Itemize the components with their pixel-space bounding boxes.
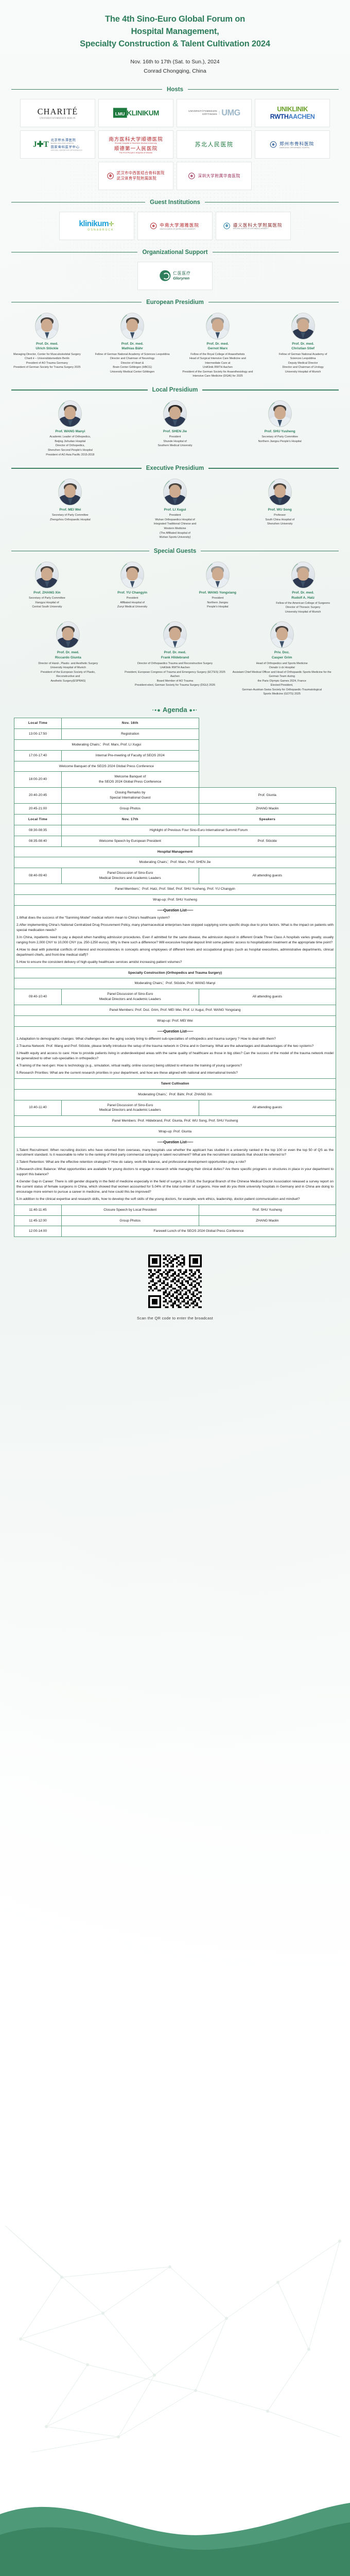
column-header-speakers: Speakers	[199, 814, 336, 825]
host-logo-northern-jiangsu: 苏北人民医院	[177, 130, 252, 159]
section-heading-local-presidium: Local Presidium	[11, 387, 339, 393]
local-presidium-list: Prof. WANG Manyi Academic Leader of Orth…	[0, 398, 350, 457]
network-pattern-background	[0, 2195, 350, 2463]
agenda-row: 08:35-08:40Welcome Speech by European Pr…	[14, 836, 336, 846]
person-name: Gernot Marx	[177, 346, 259, 351]
agenda-speaker: All attending guests	[199, 1100, 336, 1116]
agenda-time: 18:00-20:40	[14, 772, 62, 788]
person-card: Prof. Dr. med. Riccardo Giunta Director …	[15, 621, 121, 683]
person-description: Director of Hand-, Plastic- and Aestheti…	[16, 662, 120, 684]
avatar	[163, 479, 187, 505]
avatar	[268, 400, 292, 427]
agenda-note-row: Wrap-up: Prof. Giunta	[14, 1127, 336, 1138]
avatar	[268, 479, 292, 505]
agenda-note-row: Wrap-up: Prof. SHU Yusheng	[14, 895, 336, 906]
question-item: 4.Training of the next-gen: How is techn…	[16, 1063, 334, 1069]
agenda-event: Closure Speech by Local President	[62, 1205, 199, 1215]
rule-line-right	[205, 202, 339, 203]
agenda-note-row: Wrap-up: Prof. MEI Wei	[14, 1016, 336, 1027]
section-label: Local Presidium	[152, 387, 198, 393]
agenda-note-row: Panel Members：Prof. Hatz, Prof. Stief, P…	[14, 884, 336, 895]
person-card: Prof. WANG Yongxiang President Northern …	[176, 562, 260, 609]
agenda-note: Panel Members: Prof. Hildebrand, Prof. G…	[14, 1116, 336, 1127]
special-guests-row-1: Prof. ZHANG Xin Secretary of Party Commi…	[0, 560, 350, 615]
dots-separator-icon: ⁞	[218, 110, 220, 116]
host-logo-charite: CHARITÉ UNIVERSITÄTSMEDIZIN BERLIN	[20, 99, 95, 127]
avatar	[206, 313, 230, 340]
agenda-table: Local TimeNov. 16th13:00-17:50Registrati…	[14, 718, 336, 1237]
section-label: Organizational Support	[142, 249, 207, 256]
question-item: 2.After implementing China’s National Ce…	[16, 923, 334, 933]
agenda-time: 11:40-11:45	[14, 1205, 62, 1215]
agenda-time: 08:30-08:35	[14, 825, 62, 836]
dot-ornament-left-icon: ·•●	[152, 707, 161, 714]
agenda-section-row: Hospital Management	[14, 846, 336, 857]
organizational-support-logo-grid: 仁医医疗 Gloryren	[0, 261, 350, 291]
avatar	[291, 313, 315, 340]
agenda-time: 08:35-08:40	[14, 836, 62, 846]
person-card: Priv. Doz. Casper Grim Head of Orthopedi…	[229, 621, 335, 697]
poster-header: The 4th Sino-Euro Global Forum on Hospit…	[0, 0, 350, 78]
hospital-seal-icon	[224, 223, 230, 229]
qr-caption: Scan the QR code to enter the broadcast	[0, 1316, 350, 1320]
section-heading-hosts: Hosts	[11, 87, 339, 93]
avatar	[120, 313, 144, 340]
event-meta: Nov. 16th to 17th (Sat. to Sun.), 2024 C…	[9, 57, 341, 76]
agenda-section-row: Talent Cultivation	[14, 1078, 336, 1089]
host-logo-subtext-2: The First People's Hospital of Shunde	[109, 151, 163, 154]
host-logo-text: CHARITÉ	[38, 107, 78, 116]
section-heading-executive-presidium: Executive Presidium	[11, 465, 339, 471]
agenda-row: 18:00-20:40Welcome Banquet ofthe SEOS 20…	[14, 772, 336, 788]
title-line-1: The 4th Sino-Euro Global Forum on	[9, 13, 341, 26]
question-item: 4.How to deal with potential conflicts o…	[16, 947, 334, 958]
section-heading-organizational-support: Organizational Support	[11, 249, 339, 256]
qr-code[interactable]	[148, 1255, 202, 1308]
question-list: ——Question List——1.What does the success…	[14, 905, 336, 968]
person-name: Ulrich Stöckle	[6, 346, 88, 351]
question-item: 1.What does the success of the “Sanming …	[16, 916, 334, 921]
column-header-day: Nov. 16th	[62, 718, 199, 729]
question-item: 1.Adaptation to demographic changes: Wha…	[16, 1037, 334, 1042]
section-heading-special-guests: Special Guests	[11, 548, 339, 554]
question-item: 3.In China, inpatients need to pay a dep…	[16, 935, 334, 945]
person-card: Prof. ZHANG Xin Secretary of Party Commi…	[5, 562, 89, 609]
agenda-event: Panel Discussion of Sino-EuroMedical Dir…	[62, 868, 199, 884]
special-guests-row-2: Prof. Dr. med. Riccardo Giunta Director …	[0, 614, 350, 697]
person-card: Prof. Dr. med. Christian Stief Fellow of…	[261, 313, 345, 375]
guest-logo-subtext: OSNABRÜCK	[79, 229, 114, 232]
agenda-time: 12:00-14:00	[14, 1226, 62, 1237]
avatar	[56, 621, 80, 648]
agenda-note: Moderating Chairs：Prof. Bähr, Prof. ZHAN…	[14, 1089, 336, 1100]
column-header-time: Local Time	[14, 814, 62, 825]
person-card: Prof. LI Xugui President Wuhan Orthopaed…	[124, 479, 227, 540]
agenda-event: Panel Discussion of Sino-EuroMedical Dir…	[62, 1100, 199, 1116]
broadcast-qr-section: Scan the QR code to enter the broadcast	[0, 1237, 350, 1326]
person-name: Prof. YU Changyin	[92, 590, 173, 596]
person-name: Prof. LI Xugui	[125, 507, 226, 513]
person-description: Managing Director, Center for Musculoske…	[6, 352, 88, 370]
person-description: Fellow of the American College of Surgeo…	[262, 601, 344, 615]
agenda-note: Wrap-up: Prof. Giunta	[14, 1127, 336, 1138]
agenda-note: Moderating Chairs：Prof. Stöckle, Prof. W…	[14, 978, 336, 989]
guest-logo-text: klinikum	[79, 219, 109, 228]
gloryren-swirl-icon	[160, 270, 170, 281]
host-logo-zhengzhou-orthopaedic: 郑州市骨科医院 ZHENGZHOU ORTHOPAEDIC HOSPITAL	[255, 130, 330, 159]
host-logo-text: 郑州市骨科医院	[280, 140, 314, 146]
host-logo-umg: UNIVERSITÄTSMEDIZINGÖTTINGEN ⁞ UMG	[177, 99, 252, 127]
agenda-speaker: Prof. Stöckle	[199, 836, 336, 846]
person-title: Prof. Dr. med.	[262, 342, 344, 347]
question-item: 5.Research Priorities: What are the curr…	[16, 1071, 334, 1076]
column-header-day: Nov. 17th	[62, 814, 199, 825]
agenda-row: 11:45-12:00Group PhotosZHANG Maolin	[14, 1215, 336, 1226]
support-logo-subtext: Gloryren	[173, 276, 191, 281]
avatar	[58, 400, 82, 427]
column-header-time: Local Time	[14, 718, 62, 729]
agenda-row: 13:00-17:50Registration	[14, 728, 336, 739]
question-item: 1.Talent Recruitment: When recruiting do…	[16, 1148, 334, 1158]
person-card: Prof. WANG Manyi Academic Leader of Orth…	[19, 400, 122, 457]
agenda-row: 11:40-11:45Closure Speech by Local Presi…	[14, 1205, 336, 1215]
question-list: ——Question List——1.Talent Recruitment: W…	[14, 1138, 336, 1205]
event-venue: Conrad Chongqing, China	[9, 66, 341, 76]
section-heading-guest-institutions: Guest Institutions	[11, 199, 339, 206]
person-card: Prof. Dr. med. Frank Hildebrand Director…	[122, 621, 228, 687]
person-name: Casper Grim	[230, 655, 334, 660]
agenda-time: 20:40-20:45	[14, 788, 62, 804]
agenda-note-row: Moderating Chairs：Prof. Marx, Prof. SHEN…	[14, 857, 336, 868]
person-name: Frank Hildebrand	[124, 655, 227, 660]
support-logo-gloryren: 仁医医疗 Gloryren	[137, 262, 213, 290]
host-logo-text: 武汉市中西医结合骨科医院	[116, 170, 164, 176]
host-logo-subtext-2: NATIONAL CENTER FOR ORTHOPAEDICS	[51, 149, 82, 151]
host-logo-text: 南方医科大学顺德医院	[109, 135, 163, 142]
avatar	[35, 562, 59, 588]
person-description: Academic Leader of Orthopedics, Beijing …	[20, 435, 121, 457]
avatar	[270, 621, 294, 648]
avatar	[35, 313, 59, 340]
rule-line-left	[11, 89, 162, 90]
host-logo-text-2: 顺德第一人民医院	[109, 144, 163, 151]
person-description: Head of Orthopedics and Sports Medicine …	[230, 662, 334, 697]
agenda-question-list-row: ——Question List——1.What does the success…	[14, 905, 336, 968]
guest-logo-xiangya-hospital: 中南大学湘雅医院 XIANGYA HOSPITAL OF CENTRAL SOU…	[137, 212, 213, 240]
person-title: Prof. Dr. med.	[262, 590, 344, 596]
agenda-event: Welcome Banquet ofthe SEOS 2024 Global P…	[62, 772, 199, 788]
footer-wave-decoration	[0, 2478, 350, 2576]
agenda-note: Moderating Chairs：Prof. Marx, Prof. LI X…	[14, 739, 199, 750]
agenda-note-row: Moderating Chairs：Prof. Bähr, Prof. ZHAN…	[14, 1089, 336, 1100]
person-description: Secretary of Party Committee Northern Ji…	[229, 435, 330, 444]
hospital-seal-icon	[150, 223, 156, 229]
agenda-speaker: ZHANG Maolin	[199, 804, 336, 815]
question-list: ——Question List——1.Adaptation to demogra…	[14, 1026, 336, 1078]
agenda-note: Panel Members: Prof. Doz. Grim, Prof. ME…	[14, 1005, 336, 1016]
european-presidium-list: Prof. Dr. med. Ulrich Stöckle Managing D…	[0, 311, 350, 379]
person-title: Prof. Dr. med.	[6, 342, 88, 347]
person-title: Prof. Dr. med.	[124, 650, 227, 655]
question-item: 2.Talent Retention: What are the effecti…	[16, 1160, 334, 1165]
rule-line-left	[11, 389, 148, 391]
host-logo-subtext: ZHENGZHOU ORTHOPAEDIC HOSPITAL	[280, 146, 314, 148]
poster-page: The 4th Sino-Euro Global Forum on Hospit…	[0, 0, 350, 2576]
guest-logo-subtext: AFFILIATED HOSPITAL OF ZUNYI MEDICAL UNI…	[233, 228, 283, 230]
agenda-time: 09:40-10:40	[14, 989, 62, 1005]
person-name: Prof. WANG Yongxiang	[177, 590, 259, 596]
person-description: President Northern Jiangsu People's Hosp…	[177, 596, 259, 609]
person-card: Prof. SHEN Jie President Shunde Hospital…	[124, 400, 227, 448]
person-name: Prof. SHU Yusheng	[229, 429, 330, 434]
support-logo-text: 仁医医疗	[173, 270, 191, 276]
person-description: Fellow of German National Academy of Sci…	[92, 352, 173, 375]
host-logo-text: UMG	[221, 108, 240, 117]
avatar	[120, 562, 144, 588]
question-item: 3.Health equity and access to care: How …	[16, 1051, 334, 1061]
agenda-header-row: Local TimeNov. 17thSpeakers	[14, 814, 336, 825]
person-title: Priv. Doz.	[230, 650, 334, 655]
host-logo-subtext: UNIVERSITÄTSMEDIZINGÖTTINGEN	[188, 110, 217, 116]
agenda-row: 09:40-10:40Panel Discussion of Sino-Euro…	[14, 989, 336, 1005]
agenda-note: Wrap-up: Prof. MEI Wei	[14, 1016, 336, 1027]
person-title: Prof. Dr. med.	[92, 342, 173, 347]
question-item: 4.Gender Gap in Career: There is still g…	[16, 1179, 334, 1195]
agenda-event: Group Photos	[62, 804, 199, 815]
person-name: Christian Stief	[262, 346, 344, 351]
agenda-row: 20:40-20:45Closing Remarks bySpecial Int…	[14, 788, 336, 804]
person-name: Prof. ZHANG Xin	[6, 590, 88, 596]
agenda-label: Agenda	[163, 706, 187, 714]
hospital-seal-icon	[188, 173, 195, 179]
agenda-speaker: Prof. SHU Yusheng	[199, 1205, 336, 1215]
host-logo-mark: J✚T	[33, 139, 49, 149]
rule-line-left	[11, 202, 145, 203]
executive-presidium-list: Prof. MEI Wei Secretary of Party Committ…	[0, 477, 350, 540]
person-card: Prof. Dr. med. Ulrich Stöckle Managing D…	[5, 313, 89, 370]
avatar	[58, 479, 82, 505]
agenda-event: Welcome Speech by European President	[62, 836, 199, 846]
agenda-note: Panel Members：Prof. Hatz, Prof. Stief, P…	[14, 884, 336, 895]
person-card: Prof. YU Changyin President Affiliated H…	[91, 562, 174, 609]
avatar	[163, 400, 187, 427]
title-line-2: Hospital Management,	[9, 26, 341, 38]
person-description: Fellow of German National Academy of Sci…	[262, 352, 344, 375]
agenda-time: 10:40-11:40	[14, 1100, 62, 1116]
agenda-note-row: Moderating Chairs：Prof. Stöckle, Prof. W…	[14, 978, 336, 989]
agenda-speaker: All attending guests	[199, 868, 336, 884]
agenda-heading: ·•● Agenda ●•·	[0, 706, 350, 714]
agenda-row: 17:00-17:40Internal Pre-meeting of Facul…	[14, 750, 336, 761]
question-item: 5.How to ensure the consistent delivery …	[16, 960, 334, 965]
hospital-seal-icon	[270, 141, 276, 147]
person-name: Prof. WANG Manyi	[20, 429, 121, 434]
agenda-event: Panel Discussion of Sino-EuroMedical Dir…	[62, 989, 199, 1005]
rule-line-left	[11, 468, 142, 469]
person-name: Prof. SHEN Jie	[125, 429, 226, 434]
person-title: Prof. Dr. med.	[177, 342, 259, 347]
question-item: 2.Trauma Network: Prof. Wang and Prof. S…	[16, 1044, 334, 1049]
agenda-note-row: 12:00-14:00Farewell Lunch of the SEOS 20…	[14, 1226, 336, 1237]
person-card: Prof. Dr. med. Gernot Marx Fellow of the…	[176, 313, 260, 379]
person-name: Prof. WU Song	[229, 507, 330, 513]
agenda-question-list-row: ——Question List——1.Adaptation to demogra…	[14, 1026, 336, 1078]
agenda-section-title: Talent Cultivation	[14, 1078, 336, 1089]
section-heading-european-presidium: European Presidium	[11, 299, 339, 306]
agenda-time: 11:45-12:00	[14, 1215, 62, 1226]
agenda-note: Wrap-up: Prof. SHU Yusheng	[14, 895, 336, 906]
person-card: Prof. MEI Wei Secretary of Party Committ…	[19, 479, 122, 522]
host-logo-beijing-jishuitan: J✚T 北京积水潭医院 BEIJING JISHUITAN HOSPITAL 国…	[20, 130, 95, 159]
rule-line-left	[11, 302, 142, 303]
agenda-event: Registration	[62, 728, 199, 739]
agenda-note: Farewell Lunch of the SEOS 2024 Global P…	[62, 1226, 336, 1237]
event-date: Nov. 16th to 17th (Sat. to Sun.), 2024	[9, 57, 341, 66]
section-label: European Presidium	[146, 299, 204, 306]
person-card: Prof. WU Song Professor South China Hosp…	[228, 479, 331, 527]
agenda-note-row: Panel Members: Prof. Doz. Grim, Prof. ME…	[14, 1005, 336, 1016]
person-description: Director of Orthopaedics Trauma and Reco…	[124, 662, 227, 688]
person-description: President Wuhan Orthopaedics Hospital of…	[125, 513, 226, 539]
agenda-note-row: Welcome Banquet of the SEOS 2024 Global …	[14, 761, 336, 772]
hosts-logo-grid: CHARITÉ UNIVERSITÄTSMEDIZIN BERLIN LMU K…	[0, 98, 350, 191]
host-logo-subtext: UNIVERSITÄTSMEDIZIN BERLIN	[38, 117, 78, 119]
host-logo-wuhan-orthopaedics: 武汉市中西医结合骨科医院 武汉体育学院附属医院	[98, 162, 173, 190]
host-logo-uniklinik-rwth-aachen: UNIKLINIK RWTHAACHEN	[255, 99, 330, 127]
rule-line-right	[213, 252, 339, 253]
agenda-note-row: Panel Members: Prof. Hildebrand, Prof. G…	[14, 1116, 336, 1127]
rule-line-right	[202, 389, 339, 391]
agenda-event: Group Photos	[62, 1215, 199, 1226]
person-description: Secretary of Party Committee Xiangya Hos…	[6, 596, 88, 609]
plus-icon: ✛	[109, 220, 114, 227]
agenda-note: Moderating Chairs：Prof. Marx, Prof. SHEN…	[14, 857, 336, 868]
host-logo-subtext: 武汉体育学院附属医院	[116, 176, 164, 181]
host-logo-text: UNIKLINIK	[270, 106, 315, 113]
person-name: Rudolf A. Hatz	[262, 596, 344, 601]
person-description: Professor South China Hospital of Shenzh…	[229, 513, 330, 527]
person-card: Prof. SHU Yusheng Secretary of Party Com…	[228, 400, 331, 444]
agenda-event: Highlight of Previous Four Sino-Euro Int…	[62, 825, 336, 836]
guest-logo-zunyi-medical: 遵义医科大学附属医院 AFFILIATED HOSPITAL OF ZUNYI …	[216, 212, 291, 240]
rule-line-right	[188, 89, 339, 90]
section-label: Executive Presidium	[146, 465, 204, 471]
avatar	[291, 562, 315, 588]
avatar	[206, 562, 230, 588]
section-label: Hosts	[167, 87, 183, 93]
host-logo-mark: LMU	[113, 108, 126, 117]
dot-ornament-right-icon: ●•·	[189, 707, 198, 714]
host-logo-text-2: 国家骨科医学中心	[51, 144, 82, 149]
host-logo-text: 北京积水潭医院	[51, 138, 82, 143]
guest-logo-text: 遵义医科大学附属医院	[233, 222, 283, 228]
host-logo-lmu-klinikum: LMU KLINIKUM	[98, 99, 173, 127]
agenda-question-list-row: ——Question List——1.Talent Recruitment: W…	[14, 1138, 336, 1205]
agenda-time: 08:40-09:40	[14, 868, 62, 884]
rule-line-right	[208, 302, 339, 303]
title-line-3: Specialty Construction & Talent Cultivat…	[9, 38, 341, 50]
question-list-heading: ——Question List——	[16, 908, 334, 914]
host-logo-text: 深圳大学附属华南医院	[198, 173, 240, 179]
person-description: Secretary of Party Committee Zhengzhou O…	[20, 513, 121, 522]
agenda-row: 10:40-11:40Panel Discussion of Sino-Euro…	[14, 1100, 336, 1116]
host-logo-subtext: RWTHAACHEN	[270, 113, 315, 120]
agenda-time: 13:00-17:50	[14, 728, 62, 739]
agenda-event: Internal Pre-meeting of Faculty of SEOS …	[62, 750, 199, 761]
page-title: The 4th Sino-Euro Global Forum on Hospit…	[9, 13, 341, 50]
person-description: Fellow of the Royal College of Anaesthet…	[177, 352, 259, 379]
agenda-section-title: Specialty Construction (Orthopedics and …	[14, 968, 336, 978]
person-description: President Affiliated Hospital of Zunyi M…	[92, 596, 173, 609]
person-title: Prof. Dr. med.	[16, 650, 120, 655]
person-name: Prof. MEI Wei	[20, 507, 121, 513]
guest-logo-subtext: XIANGYA HOSPITAL OF CENTRAL SOUTH UNIVER…	[160, 228, 200, 230]
agenda-time: 20:45-21:00	[14, 804, 62, 815]
question-list-heading: ——Question List——	[16, 1029, 334, 1035]
guest-institutions-logo-grid: klinikum✛ OSNABRÜCK 中南大学湘雅医院 XIANGYA HOS…	[0, 211, 350, 241]
agenda-row: 20:45-21:00Group PhotosZHANG Maolin	[14, 804, 336, 815]
host-logo-south-china-hospital: 深圳大学附属华南医院	[177, 162, 252, 190]
host-logo-text: KLINIKUM	[127, 109, 159, 116]
agenda-row: 08:40-09:40Panel Discussion of Sino-Euro…	[14, 868, 336, 884]
avatar	[163, 621, 187, 648]
agenda-speaker: ZHANG Maolin	[199, 1215, 336, 1226]
rule-line-right	[201, 551, 339, 552]
agenda-note: Welcome Banquet of the SEOS 2024 Global …	[14, 761, 199, 772]
agenda-header-row: Local TimeNov. 16th	[14, 718, 336, 729]
rule-line-right	[208, 468, 339, 469]
person-card: Prof. Dr. med. Rudolf A. Hatz Fellow of …	[261, 562, 345, 615]
agenda-row: 08:30-08:35Highlight of Previous Four Si…	[14, 825, 336, 836]
section-label: Special Guests	[154, 548, 196, 554]
hospital-seal-icon	[107, 173, 113, 179]
person-description: President Shunde Hospital of Southern Me…	[125, 435, 226, 448]
guest-logo-klinikum-osnabrueck: klinikum✛ OSNABRÜCK	[59, 212, 134, 240]
rule-line-left	[11, 551, 149, 552]
person-name: Riccardo Giunta	[16, 655, 120, 660]
host-logo-shunde-hospital: 南方医科大学顺德医院 Shunde Hospital of Southern M…	[98, 130, 173, 159]
agenda-section-row: Specialty Construction (Orthopedics and …	[14, 968, 336, 978]
guest-logo-text: 中南大学湘雅医院	[160, 222, 200, 228]
agenda-event: Closing Remarks bySpecial International …	[62, 788, 199, 804]
agenda-time: 17:00-17:40	[14, 750, 62, 761]
agenda-speaker: All attending guests	[199, 989, 336, 1005]
section-label: Guest Institutions	[150, 199, 200, 206]
rule-line-left	[11, 252, 137, 253]
person-name: Mathias Bähr	[92, 346, 173, 351]
agenda-section-title: Hospital Management	[14, 846, 336, 857]
question-item: 5.In addition to the clinical expertise …	[16, 1197, 334, 1202]
question-item: 3.Research-clinic Balance: What opportun…	[16, 1167, 334, 1177]
agenda-speaker: Prof. Giunta	[199, 788, 336, 804]
person-card: Prof. Dr. med. Mathias Bähr Fellow of Ge…	[91, 313, 174, 375]
question-list-heading: ——Question List——	[16, 1140, 334, 1146]
host-logo-text: 苏北人民医院	[195, 140, 234, 148]
agenda-note-row: Moderating Chairs：Prof. Marx, Prof. LI X…	[14, 739, 336, 750]
